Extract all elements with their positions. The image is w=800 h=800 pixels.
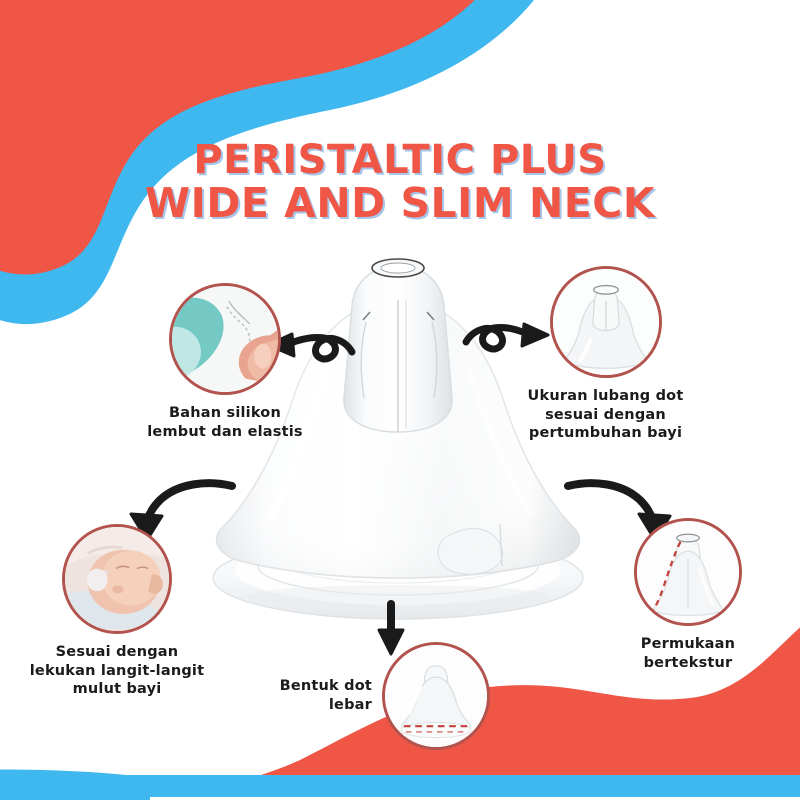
feature-caption: Bentuk dot lebar [230, 677, 372, 714]
feature-caption: Permukaan bertekstur [588, 635, 788, 672]
feature-ukuran-lubang-dot: Ukuran lubang dot sesuai dengan pertumbu… [498, 266, 713, 443]
baby-feeding-photo [62, 524, 172, 634]
wide-nipple-photo [382, 642, 490, 750]
nipple-hole-photo [550, 266, 662, 378]
silicone-stretch-photo [169, 283, 281, 395]
textured-nipple-photo [634, 518, 742, 626]
feature-permukaan-bertekstur: Permukaan bertekstur [588, 518, 788, 672]
feature-caption: Ukuran lubang dot sesuai dengan pertumbu… [498, 387, 713, 443]
feature-caption: Bahan silikon lembut dan elastis [125, 404, 325, 441]
feature-lekukan-langit-langit: Sesuai dengan lekukan langit-langit mulu… [12, 524, 222, 699]
infographic-poster: PERISTALTIC PLUS WIDE AND SLIM NECK Baha… [0, 0, 800, 800]
feature-bentuk-dot-lebar: Bentuk dot lebar [230, 642, 490, 750]
feature-caption: Sesuai dengan lekukan langit-langit mulu… [12, 643, 222, 699]
feature-bahan-silikon: Bahan silikon lembut dan elastis [125, 283, 325, 441]
